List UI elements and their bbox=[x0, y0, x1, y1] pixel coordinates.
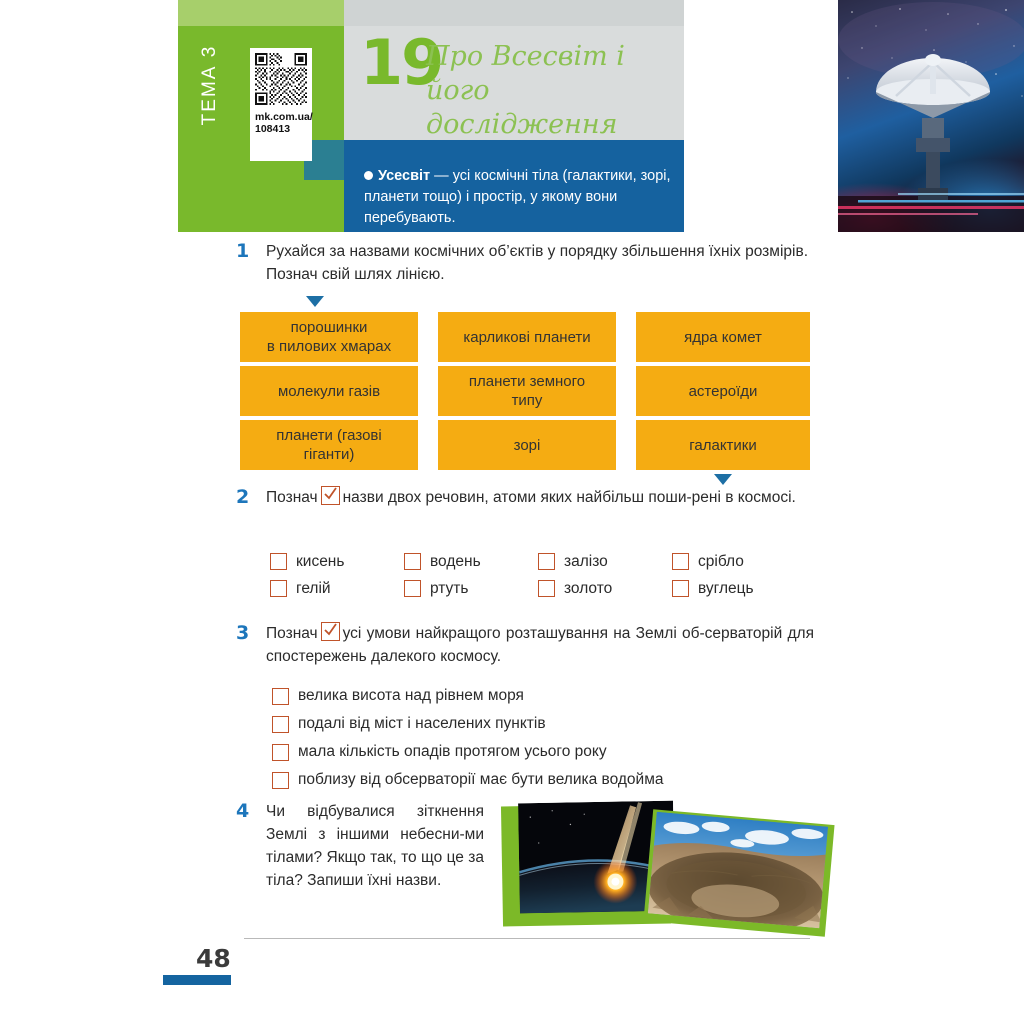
checkbox-label: залізо bbox=[564, 553, 608, 571]
checkbox-icon[interactable] bbox=[272, 688, 289, 705]
checkbox-icon[interactable] bbox=[404, 553, 421, 570]
checkbox-option[interactable]: водень bbox=[404, 548, 481, 575]
task-1-number: 1 bbox=[236, 240, 249, 262]
task-4-number: 4 bbox=[236, 800, 249, 822]
task-4-photos bbox=[500, 795, 830, 930]
task-3: 3 Позначусі умови найкращого розташуванн… bbox=[238, 622, 814, 668]
checkbox-label: велика висота над рівнем моря bbox=[298, 687, 524, 705]
task-1: 1 Рухайся за назвами космічних об’єктів … bbox=[238, 240, 808, 286]
bullet-dot-icon bbox=[364, 171, 373, 180]
grid-cell-label: порошинки в пилових хмарах bbox=[267, 318, 391, 356]
grid-cell[interactable]: карликові планети bbox=[438, 312, 616, 362]
grid-exit-arrow-icon bbox=[714, 474, 732, 485]
task-3-text-before: Познач bbox=[266, 625, 318, 642]
checkbox-icon[interactable] bbox=[672, 580, 689, 597]
qr-url-line2: 108413 bbox=[255, 123, 307, 135]
grid-cell-label: ядра комет bbox=[684, 328, 762, 347]
qr-card[interactable]: mk.com.ua/ 108413 bbox=[250, 48, 312, 161]
checkbox-label: водень bbox=[430, 553, 481, 571]
grid-cell-label: планети земного типу bbox=[469, 372, 585, 410]
grid-cell-label: молекули газів bbox=[278, 382, 380, 401]
definition-dash: — bbox=[430, 168, 453, 184]
impact-crater-photo bbox=[648, 812, 828, 929]
definition-block: Усесвіт — усі космічні тіла (галактики, … bbox=[364, 166, 682, 229]
checkbox-option[interactable]: кисень bbox=[270, 548, 344, 575]
checkbox-label: золото bbox=[564, 580, 612, 598]
page-number: 48 bbox=[196, 944, 231, 973]
grid-cell-label: планети (газові гіганти) bbox=[276, 426, 381, 464]
task-3-text-after: усі умови найкращого розташування на Зем… bbox=[266, 625, 814, 665]
checkbox-icon[interactable] bbox=[538, 553, 555, 570]
checkbox-option[interactable]: ртуть bbox=[404, 575, 481, 602]
task-2: 2 Позначназви двох речовин, атоми яких н… bbox=[238, 486, 810, 509]
qr-url-line1: mk.com.ua/ bbox=[255, 111, 307, 123]
checkbox-label: гелій bbox=[296, 580, 331, 598]
checkbox-icon[interactable] bbox=[272, 716, 289, 733]
task-2-option-column: залізо золото bbox=[538, 548, 612, 602]
header-gray-top-strip bbox=[344, 0, 684, 26]
checked-checkbox-icon bbox=[321, 622, 340, 641]
task-3-text: Позначусі умови найкращого розташування … bbox=[266, 622, 814, 668]
checkbox-icon[interactable] bbox=[270, 553, 287, 570]
task-2-option-column: водень ртуть bbox=[404, 548, 481, 602]
qr-code-icon bbox=[255, 53, 307, 105]
checkbox-icon[interactable] bbox=[672, 553, 689, 570]
checkbox-label: вуглець bbox=[698, 580, 754, 598]
grid-cell[interactable]: планети (газові гіганти) bbox=[240, 420, 418, 470]
checkbox-option[interactable]: срібло bbox=[672, 548, 754, 575]
grid-cell-label: астероїди bbox=[689, 382, 758, 401]
textbook-page: ТЕМА 3 bbox=[0, 0, 1024, 1024]
task-4-text: Чи відбувалися зіткнення Землі з іншими … bbox=[266, 800, 484, 892]
grid-cell[interactable]: ядра комет bbox=[636, 312, 810, 362]
checkbox-icon[interactable] bbox=[538, 580, 555, 597]
task-2-text-after: назви двох речовин, атоми яких найбільш … bbox=[343, 489, 796, 506]
checkbox-label: мала кількість опадів протягом усього ро… bbox=[298, 743, 607, 761]
grid-cell-label: карликові планети bbox=[463, 328, 590, 347]
task-2-text: Позначназви двох речовин, атоми яких най… bbox=[266, 486, 810, 509]
checkbox-option[interactable]: подалі від міст і населених пунктів bbox=[272, 710, 812, 738]
object-size-grid: порошинки в пилових хмарах карликові пла… bbox=[240, 312, 810, 470]
checkbox-option[interactable]: гелій bbox=[270, 575, 344, 602]
task-2-text-before: Познач bbox=[266, 489, 318, 506]
checkbox-label: срібло bbox=[698, 553, 744, 571]
checkbox-option[interactable]: велика висота над рівнем моря bbox=[272, 682, 812, 710]
checkbox-option[interactable]: залізо bbox=[538, 548, 612, 575]
checkbox-icon[interactable] bbox=[270, 580, 287, 597]
checkbox-label: кисень bbox=[296, 553, 344, 571]
checkbox-option[interactable]: поблизу від обсерваторії має бути велика… bbox=[272, 766, 812, 794]
grid-cell[interactable]: астероїди bbox=[636, 366, 810, 416]
task-2-option-column: кисень гелій bbox=[270, 548, 344, 602]
theme-label: ТЕМА 3 bbox=[199, 15, 221, 155]
checkbox-option[interactable]: золото bbox=[538, 575, 612, 602]
task-3-options: велика висота над рівнем моря подалі від… bbox=[272, 682, 812, 794]
task-2-option-column: срібло вуглець bbox=[672, 548, 754, 602]
definition-term: Усесвіт bbox=[378, 168, 430, 184]
checkbox-option[interactable]: мала кількість опадів протягом усього ро… bbox=[272, 738, 812, 766]
checked-checkbox-icon bbox=[321, 486, 340, 505]
grid-cell[interactable]: планети земного типу bbox=[438, 366, 616, 416]
footer-divider bbox=[244, 938, 810, 939]
checkbox-icon[interactable] bbox=[404, 580, 421, 597]
checkbox-label: поблизу від обсерваторії має бути велика… bbox=[298, 771, 664, 789]
page-number-bar bbox=[163, 975, 231, 985]
page-header: ТЕМА 3 bbox=[178, 0, 850, 232]
task-4: 4 Чи відбувалися зіткнення Землі з іншим… bbox=[238, 800, 488, 892]
checkbox-label: подалі від міст і населених пунктів bbox=[298, 715, 546, 733]
grid-cell[interactable]: порошинки в пилових хмарах bbox=[240, 312, 418, 362]
radio-telescope-photo bbox=[838, 0, 1024, 232]
lesson-title: Про Всесвіт і його дослідження bbox=[426, 40, 684, 142]
grid-cell[interactable]: зорі bbox=[438, 420, 616, 470]
checkbox-option[interactable]: вуглець bbox=[672, 575, 754, 602]
checkbox-icon[interactable] bbox=[272, 744, 289, 761]
grid-cell-label: зорі bbox=[514, 436, 541, 455]
grid-cell[interactable]: галактики bbox=[636, 420, 810, 470]
task-2-number: 2 bbox=[236, 486, 249, 508]
checkbox-label: ртуть bbox=[430, 580, 468, 598]
task-1-text: Рухайся за назвами космічних об’єктів у … bbox=[266, 240, 808, 286]
checkbox-icon[interactable] bbox=[272, 772, 289, 789]
task-3-number: 3 bbox=[236, 622, 249, 644]
grid-cell[interactable]: молекули газів bbox=[240, 366, 418, 416]
grid-entry-arrow-icon bbox=[306, 296, 324, 307]
grid-cell-label: галактики bbox=[689, 436, 757, 455]
